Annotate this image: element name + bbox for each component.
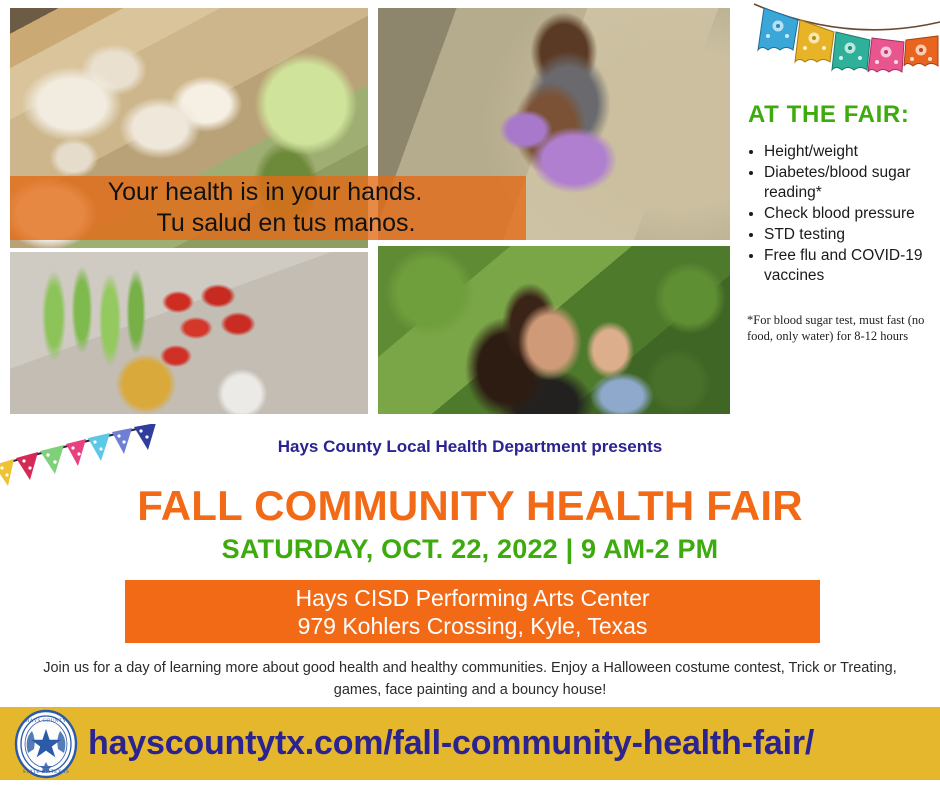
tagline-english: Your health is in your hands. — [108, 177, 423, 208]
tagline-overlay: Your health is in your hands. Tu salud e… — [10, 176, 526, 240]
footer-bar: HAYS COUNTY STATE OF TEXAS hayscountytx.… — [0, 707, 940, 780]
presenter-line: Hays County Local Health Department pres… — [0, 437, 940, 457]
list-item: Free flu and COVID-19 vaccines — [764, 246, 940, 286]
svg-text:HAYS COUNTY: HAYS COUNTY — [26, 718, 67, 724]
flyer-canvas: Your health is in your hands. Tu salud e… — [0, 0, 940, 788]
website-url[interactable]: hayscountytx.com/fall-community-health-f… — [88, 724, 814, 763]
at-the-fair-list: Height/weight Diabetes/blood sugar readi… — [742, 142, 940, 287]
list-item: Check blood pressure — [764, 204, 940, 224]
fasting-footnote: *For blood sugar test, must fast (no foo… — [747, 312, 937, 344]
page-title: FALL COMMUNITY HEALTH FAIR — [0, 482, 940, 530]
papel-flag-pink — [868, 38, 904, 72]
asparagus-tomatoes-photo — [10, 252, 368, 414]
date-time-line: SATURDAY, OCT. 22, 2022 | 9 AM-2 PM — [0, 534, 940, 565]
list-item: STD testing — [764, 225, 940, 245]
at-the-fair-heading: AT THE FAIR: — [748, 101, 909, 129]
venue-name: Hays CISD Performing Arts Center — [295, 584, 649, 612]
venue-box: Hays CISD Performing Arts Center 979 Koh… — [125, 580, 820, 643]
papel-flag-blue — [758, 8, 798, 50]
svg-text:STATE OF TEXAS: STATE OF TEXAS — [23, 769, 70, 775]
mother-and-baby-photo — [378, 246, 730, 414]
venue-address: 979 Kohlers Crossing, Kyle, Texas — [298, 612, 648, 640]
papel-picado-decoration — [752, 0, 940, 88]
papel-flag-orange — [904, 36, 938, 66]
tagline-spanish: Tu salud en tus manos. — [157, 208, 416, 239]
event-description: Join us for a day of learning more about… — [30, 657, 910, 701]
list-item: Height/weight — [764, 142, 940, 162]
hays-county-seal-icon: HAYS COUNTY STATE OF TEXAS — [14, 709, 78, 779]
papel-flag-teal — [832, 32, 870, 70]
list-item: Diabetes/blood sugar reading* — [764, 163, 940, 203]
